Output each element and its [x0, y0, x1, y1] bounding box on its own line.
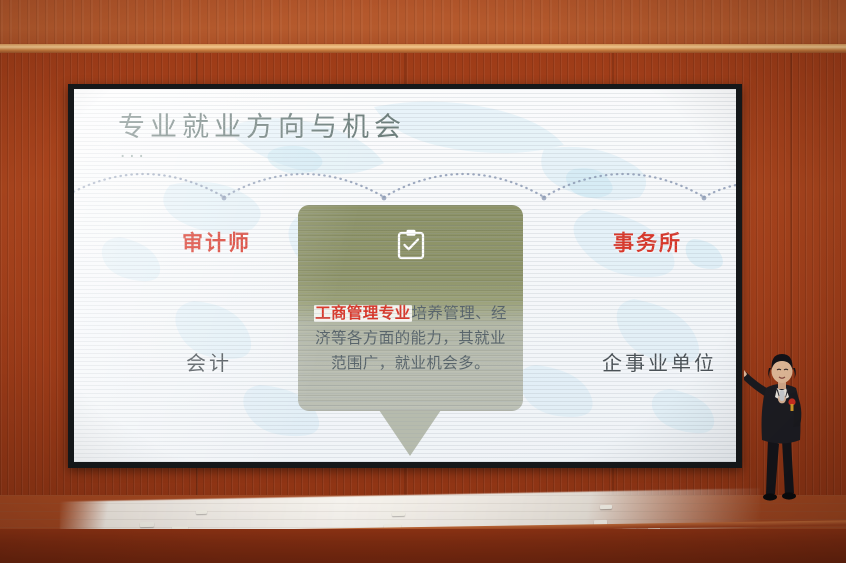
dotted-arc-garland [74, 157, 736, 209]
stage-front-face [0, 529, 846, 563]
presenter [744, 346, 820, 506]
floor-paper [140, 522, 154, 527]
label-accounting: 会计 [186, 347, 232, 376]
auditorium-scene: 专业就业方向与机会 ... [0, 0, 846, 563]
label-enterprises: 企事业单位 [602, 347, 717, 376]
slide-content: 专业就业方向与机会 ... [74, 89, 736, 462]
card-text: 工商管理专业培养管理、经济等各方面的能力，其就业范围广，就业机会多。 [309, 301, 512, 376]
floor-paper [392, 512, 405, 516]
floor-paper [600, 505, 612, 509]
card-pointer-tail [379, 410, 441, 456]
clipboard-check-icon [396, 229, 426, 261]
label-auditor: 审计师 [182, 227, 251, 257]
floor-paper [196, 510, 207, 514]
info-card: 工商管理专业培养管理、经济等各方面的能力，其就业范围广，就业机会多。 [298, 205, 523, 455]
label-firm: 事务所 [613, 227, 682, 257]
projection-screen: 专业就业方向与机会 ... [74, 89, 736, 462]
slide-title: 专业就业方向与机会 [118, 105, 406, 144]
upper-wall-panel [0, 0, 846, 48]
card-highlight-text: 工商管理专业 [314, 305, 411, 322]
